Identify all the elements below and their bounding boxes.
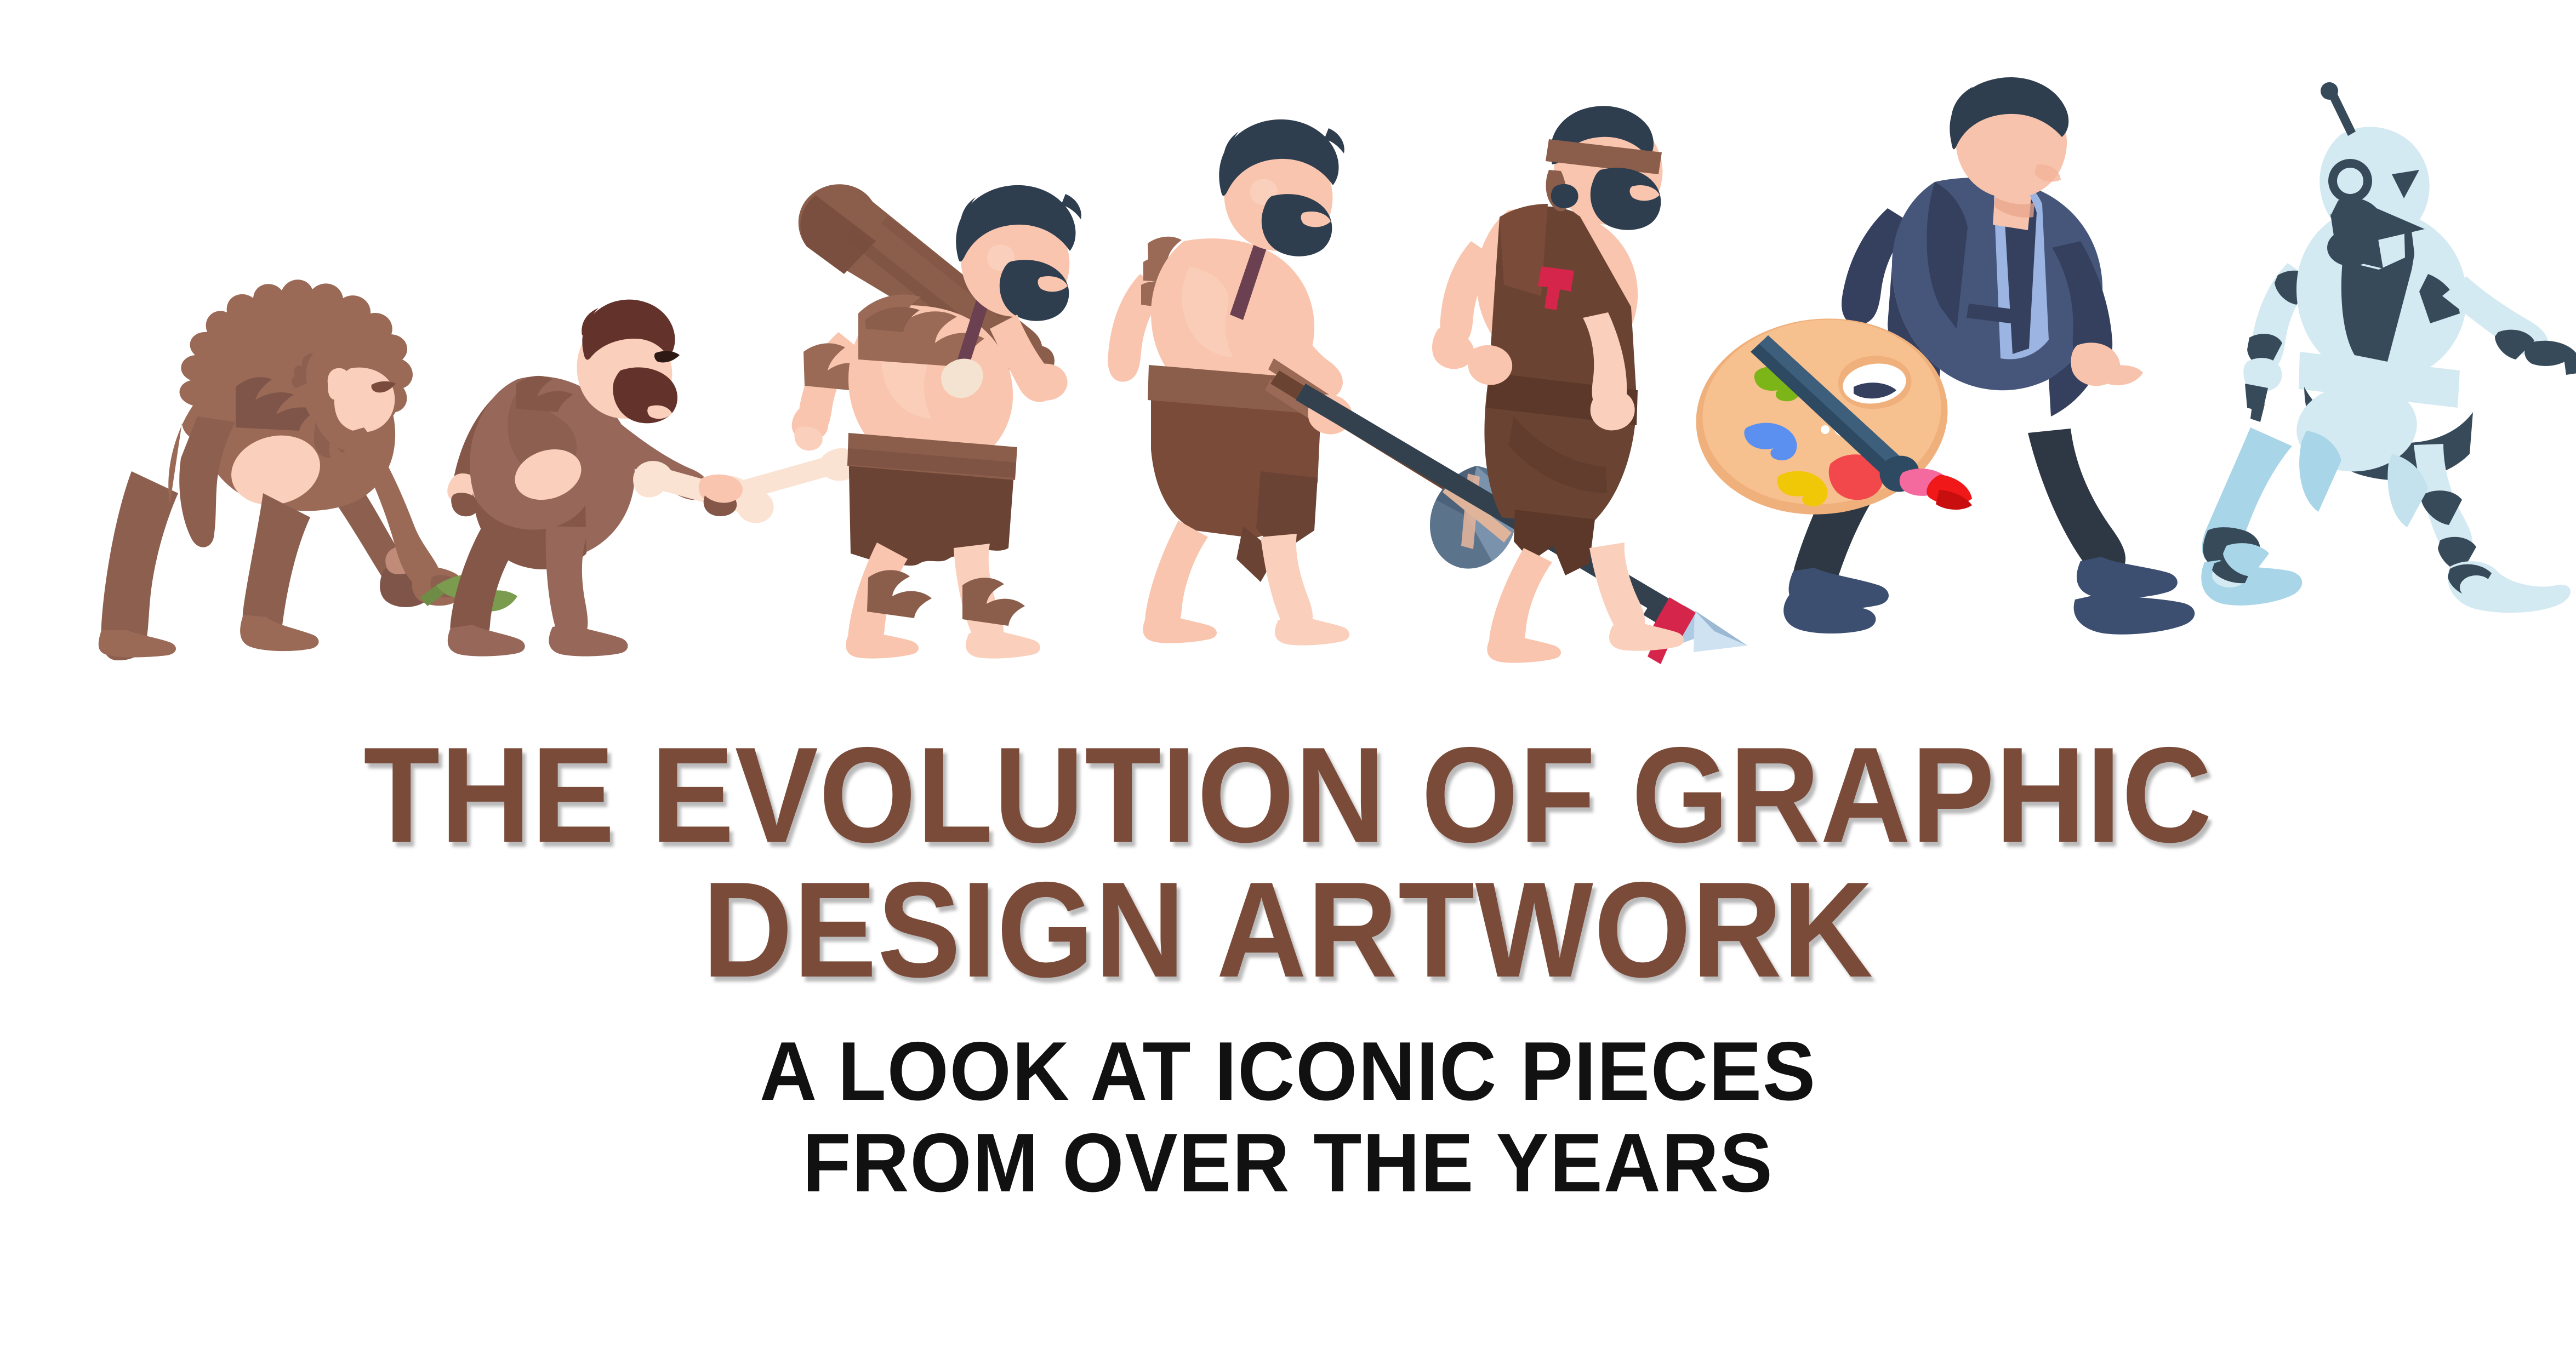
evolution-illustration	[0, 0, 2576, 707]
poster-canvas: THE EVOLUTION OF GRAPHIC DESIGN ARTWORK …	[0, 0, 2576, 1370]
figure-tribesman-with-spear	[1296, 106, 1747, 664]
page-title: THE EVOLUTION OF GRAPHIC DESIGN ARTWORK	[0, 732, 2576, 992]
headline-line-1: THE EVOLUTION OF GRAPHIC	[103, 732, 2473, 857]
figure-caveman-with-club	[792, 184, 1081, 658]
subtitle-line-1: A LOOK AT ICONIC PIECES	[65, 1029, 2512, 1114]
subtitle-line-2: FROM OVER THE YEARS	[65, 1121, 2512, 1206]
headline-line-2: DESIGN ARTWORK	[103, 867, 2473, 992]
text-block: THE EVOLUTION OF GRAPHIC DESIGN ARTWORK …	[0, 707, 2576, 1206]
figure-robot	[2201, 82, 2576, 613]
figure-hunter-with-axe	[1108, 119, 1517, 646]
page-subtitle: A LOOK AT ICONIC PIECES FROM OVER THE YE…	[0, 1029, 2576, 1206]
figure-artist-with-palette	[1686, 77, 2195, 635]
